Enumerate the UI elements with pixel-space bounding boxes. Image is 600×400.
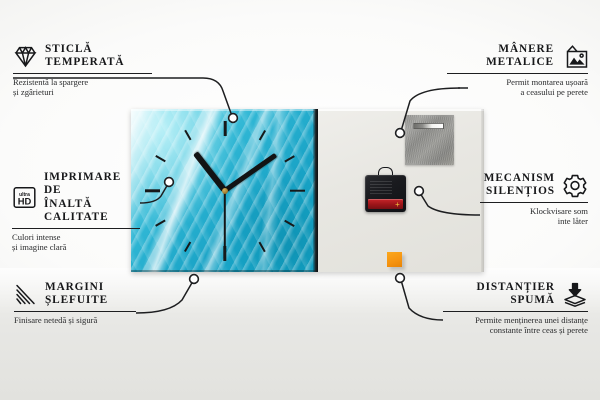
callout-polished-edges: MARGINI ȘLEFUITE Finisare netedă și sigu… <box>14 281 136 325</box>
callout-rule <box>13 73 152 74</box>
callout-foam-spacer: DISTANȚIER SPUMĂ Permite menținerea unei… <box>443 281 588 335</box>
metal-hanger-plate <box>405 115 454 165</box>
clock-tick <box>184 241 191 251</box>
clock-tick <box>290 189 305 192</box>
infographic-stage: + <box>0 0 600 400</box>
callout-subtitle: Finisare netedă și sigură <box>14 315 136 325</box>
callout-rule <box>480 202 588 203</box>
foam-spacer <box>387 252 402 267</box>
callout-title: IMPRIMARE DE ÎNALTĂ CALITATE <box>44 171 140 225</box>
callout-hd-print: ultra HD IMPRIMARE DE ÎNALTĂ CALITATE Cu… <box>12 171 140 252</box>
callout-title: DISTANȚIER SPUMĂ <box>477 281 555 308</box>
callout-silent-mechanism: MECANISM SILENȚIOS Klockvisare som inte … <box>480 172 588 226</box>
battery: + <box>368 199 403 209</box>
clock-tick <box>284 219 294 226</box>
callout-title: MÂNERE METALICE <box>486 43 554 70</box>
callout-subtitle: Rezistentă la spargere și zgârieturi <box>13 77 153 97</box>
polished-edge-icon <box>14 283 38 306</box>
callout-rule <box>14 311 136 312</box>
clock-tick <box>155 219 165 226</box>
hanger-slot <box>413 123 444 129</box>
clock-tick <box>258 241 265 251</box>
clock-face-panel <box>131 109 318 272</box>
clock-tick <box>258 129 265 139</box>
clock-tick <box>145 189 160 192</box>
clock-tick <box>184 129 191 139</box>
badge-main-text: HD <box>18 196 32 207</box>
ultra-hd-badge-icon: ultra HD <box>12 185 37 210</box>
mechanism-vents <box>370 181 392 194</box>
callout-tempered-glass: STICLĂ TEMPERATĂ Rezistentă la spargere … <box>13 43 153 97</box>
callout-title: MARGINI ȘLEFUITE <box>45 281 108 308</box>
callout-rule <box>12 228 140 229</box>
clock-tick <box>284 155 294 162</box>
clock-tick <box>155 155 165 162</box>
clock-second-hand <box>224 191 226 249</box>
callout-subtitle: Klockvisare som inte låter <box>480 206 588 226</box>
gear-icon <box>562 173 588 198</box>
back-panel-top-edge <box>318 109 484 111</box>
clock-center-cap <box>222 188 228 194</box>
panel-bottom-edge <box>131 270 318 272</box>
callout-rule <box>443 311 588 312</box>
picture-hanger-icon <box>561 44 588 69</box>
callout-subtitle: Permit montarea ușoară a ceasului pe per… <box>447 77 588 97</box>
press-down-layers-icon <box>562 282 588 307</box>
callout-rule <box>447 73 588 74</box>
panel-top-edge <box>131 109 318 111</box>
callout-subtitle: Permite menținerea unei distanțe constan… <box>443 315 588 335</box>
callout-subtitle: Culori intense și imagine clară <box>12 232 140 252</box>
clock-tick <box>223 120 226 135</box>
clock-back-panel: + <box>318 109 484 272</box>
callout-title: STICLĂ TEMPERATĂ <box>45 43 124 70</box>
silent-mechanism-box: + <box>365 172 406 212</box>
diamond-icon <box>13 45 38 68</box>
callout-metal-handles: MÂNERE METALICE Permit montarea ușoară a… <box>447 43 588 97</box>
callout-title: MECANISM SILENȚIOS <box>484 172 555 199</box>
battery-plus-icon: + <box>394 201 401 208</box>
mechanism-body: + <box>365 175 406 212</box>
